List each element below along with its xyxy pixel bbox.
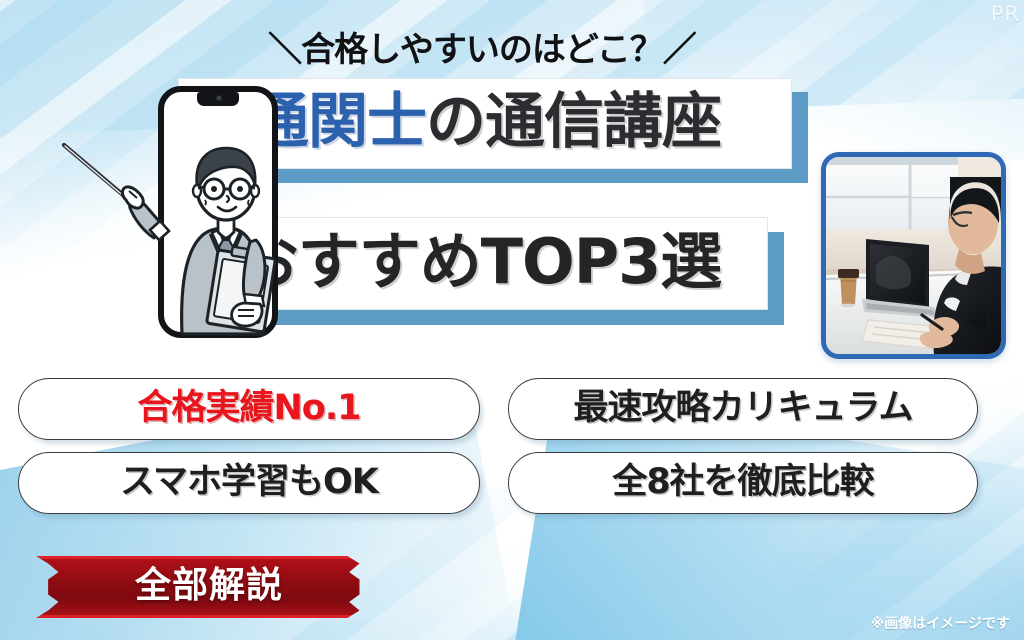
study-photo bbox=[826, 157, 1001, 354]
pr-label: PR bbox=[991, 2, 1020, 26]
feature-pill-1-label: 合格実績No.1 bbox=[138, 391, 361, 428]
feature-pill-3-label: スマホ学習もOK bbox=[120, 465, 378, 502]
pointer-stick-icon bbox=[64, 145, 129, 200]
feature-pill-2-label: 最速攻略カリキュラム bbox=[574, 391, 913, 428]
feature-pill-1: 合格実績No.1 bbox=[18, 378, 480, 440]
headline-secondary-text: おすすめTOP3選 bbox=[237, 231, 722, 297]
teacher-right-arm bbox=[243, 240, 264, 302]
headline-rest: の通信講座 bbox=[426, 87, 721, 157]
phone-camera-icon bbox=[216, 95, 221, 100]
smartphone-illustration bbox=[60, 88, 176, 336]
ribbon-banner: 全部解説 bbox=[36, 556, 382, 618]
image-disclaimer: ※画像はイメージです bbox=[871, 613, 1010, 633]
feature-pill-4-label: 全8社を徹底比較 bbox=[612, 465, 873, 502]
study-photo-card bbox=[821, 152, 1006, 359]
teacher-hand-right bbox=[232, 303, 262, 326]
feature-pill-2: 最速攻略カリキュラム bbox=[508, 378, 978, 440]
feature-pill-3: スマホ学習もOK bbox=[18, 452, 480, 514]
promo-banner: PR ＼合格しやすいのはどこ？／ 通関士の通信講座 おすすめTOP3選 合格実績… bbox=[0, 0, 1024, 640]
headline-primary-text: 通関士の通信講座 bbox=[249, 92, 721, 155]
teacher-hand-left bbox=[122, 187, 143, 208]
catch-copy: ＼合格しやすいのはどこ？／ bbox=[192, 22, 772, 71]
feature-pill-4: 全8社を徹底比較 bbox=[508, 452, 978, 514]
teacher-illustration-svg bbox=[60, 88, 290, 348]
feature-pill-grid: 合格実績No.1 最速攻略カリキュラム スマホ学習もOK 全8社を徹底比較 bbox=[18, 378, 978, 514]
ribbon-label: 全部解説 bbox=[36, 556, 382, 618]
